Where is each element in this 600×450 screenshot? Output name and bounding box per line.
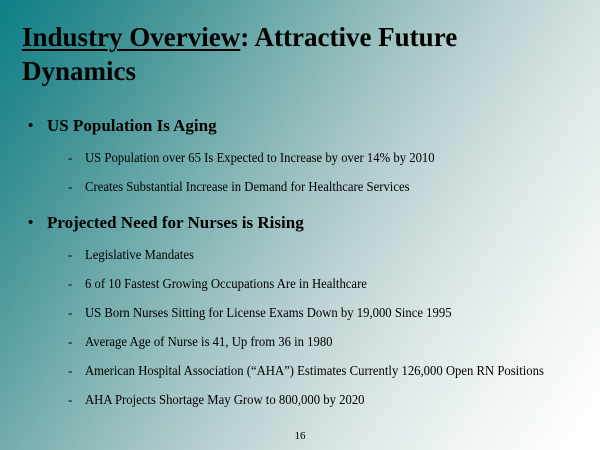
- bullet-dash-icon: -: [68, 150, 72, 166]
- presentation-slide: Industry Overview: Attractive Future Dyn…: [0, 0, 600, 450]
- bullet-level2-item: - Creates Substantial Increase in Demand…: [0, 179, 600, 195]
- bullet-dot-icon: •: [28, 115, 33, 137]
- bullet-level2-item: - AHA Projects Shortage May Grow to 800,…: [0, 392, 600, 408]
- bullet-level2-label: Average Age of Nurse is 41, Up from 36 i…: [85, 334, 333, 350]
- slide-content: Industry Overview: Attractive Future Dyn…: [0, 0, 600, 450]
- bullet-level2-item: - US Population over 65 Is Expected to I…: [0, 150, 600, 166]
- bullet-dash-icon: -: [68, 305, 72, 321]
- bullet-dash-icon: -: [68, 247, 72, 263]
- slide-title-underlined-part: Industry Overview: [22, 22, 240, 52]
- bullet-group-1: • US Population Is Aging - US Population…: [0, 115, 600, 195]
- slide-number: 16: [0, 429, 600, 443]
- bullet-level1-label: Projected Need for Nurses is Rising: [47, 213, 304, 232]
- bullet-level2-label: Legislative Mandates: [85, 247, 194, 263]
- bullet-dash-icon: -: [68, 179, 72, 195]
- bullet-level2-item: - Average Age of Nurse is 41, Up from 36…: [0, 334, 600, 350]
- bullet-level2-label: Creates Substantial Increase in Demand f…: [85, 179, 410, 195]
- bullet-dash-icon: -: [68, 276, 72, 292]
- bullet-level1-heading: • US Population Is Aging: [0, 115, 600, 137]
- bullet-level2-item: - Legislative Mandates: [0, 247, 600, 263]
- bullet-group-2: • Projected Need for Nurses is Rising - …: [0, 212, 600, 408]
- bullet-level1-heading: • Projected Need for Nurses is Rising: [0, 212, 600, 234]
- bullet-dash-icon: -: [68, 334, 72, 350]
- bullet-level2-label: AHA Projects Shortage May Grow to 800,00…: [85, 392, 365, 408]
- bullet-level2-item: - US Born Nurses Sitting for License Exa…: [0, 305, 600, 321]
- bullet-level2-label: US Population over 65 Is Expected to Inc…: [85, 150, 435, 166]
- bullet-dash-icon: -: [68, 392, 72, 408]
- slide-body: • US Population Is Aging - US Population…: [0, 115, 600, 408]
- bullet-level2-label: 6 of 10 Fastest Growing Occupations Are …: [85, 276, 367, 292]
- bullet-level2-item: - 6 of 10 Fastest Growing Occupations Ar…: [0, 276, 600, 292]
- bullet-level1-label: US Population Is Aging: [47, 116, 217, 135]
- bullet-level2-label: American Hospital Association (“AHA”) Es…: [85, 363, 544, 379]
- slide-title: Industry Overview: Attractive Future Dyn…: [22, 20, 562, 88]
- bullet-dash-icon: -: [68, 363, 72, 379]
- bullet-level2-item: - American Hospital Association (“AHA”) …: [0, 363, 600, 379]
- bullet-level2-label: US Born Nurses Sitting for License Exams…: [85, 305, 452, 321]
- bullet-dot-icon: •: [28, 212, 33, 234]
- section-spacer: [0, 195, 600, 212]
